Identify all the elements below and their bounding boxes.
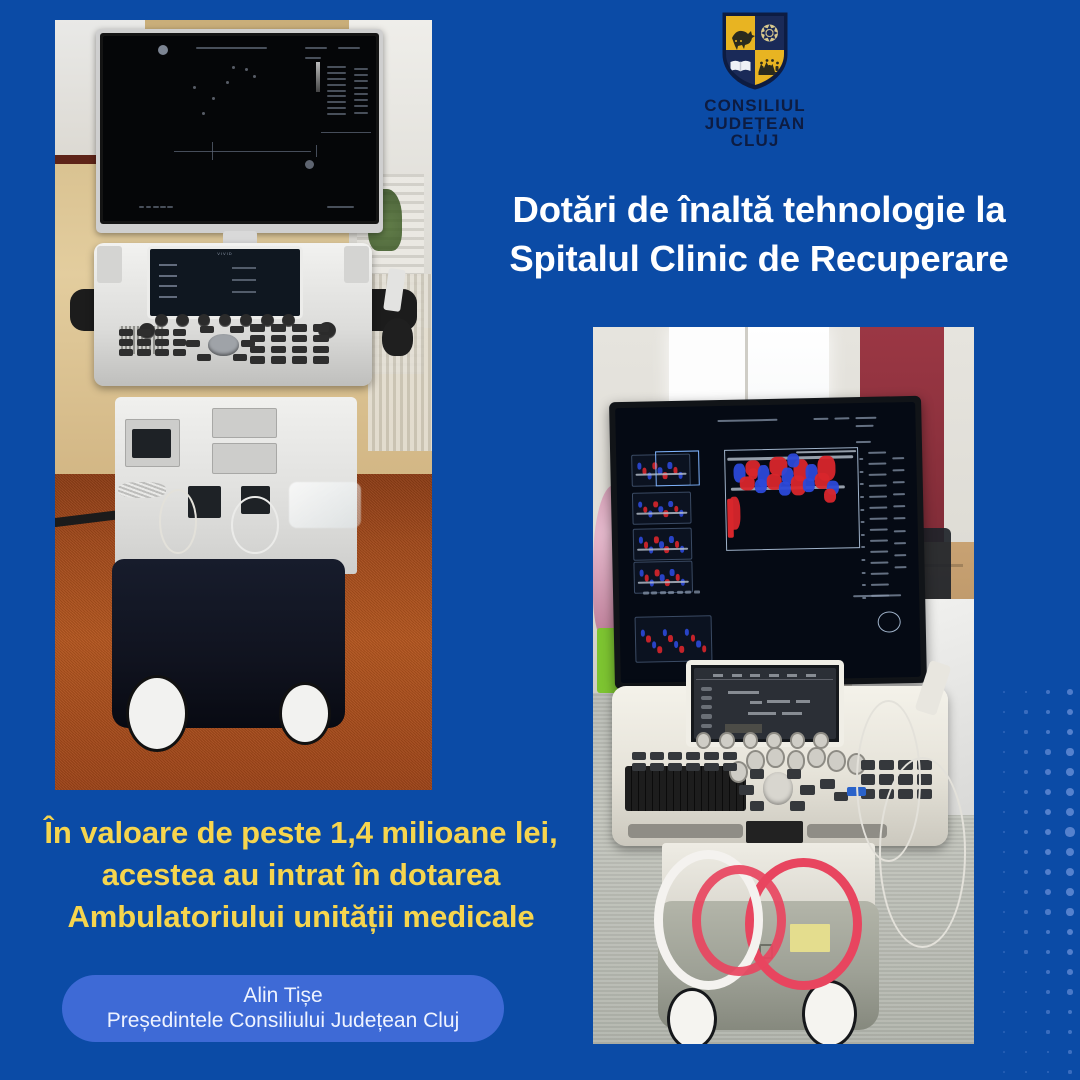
doppler-monitor [609,395,927,688]
coat-of-arms-icon [722,12,788,90]
caption-line-2: acestea au intrat în dotarea [12,854,590,896]
ultrasound-monitor [96,29,383,233]
title-line-1: Dotări de înaltă tehnologie la [455,186,1063,235]
caption-text: În valoare de peste 1,4 milioane lei, ac… [12,812,590,938]
page-title: Dotări de înaltă tehnologie la Spitalul … [455,186,1063,283]
halftone-dots-decoration [990,680,1080,1080]
poster-canvas: CONSILIUL JUDEȚEAN CLUJ Dotări de înaltă… [0,0,1080,1080]
photo-ultrasound-right [593,327,974,1044]
signature-name: Alin Tișe [243,984,322,1009]
logo-block: CONSILIUL JUDEȚEAN CLUJ [690,12,820,150]
signature-pill: Alin Tișe Președintele Consiliului Județ… [62,975,504,1042]
photo-ultrasound-left [55,20,432,790]
ultrasound-control-panel [70,243,417,405]
signature-role: Președintele Consiliului Județean Cluj [107,1009,460,1034]
caption-line-3: Ambulatoriului unității medicale [12,896,590,938]
logo-line-3: CLUJ [690,132,820,150]
logo-line-1: CONSILIUL [690,97,820,115]
caption-line-1: În valoare de peste 1,4 milioane lei, [12,812,590,854]
title-line-2: Spitalul Clinic de Recuperare [455,235,1063,284]
logo-line-2: JUDEȚEAN [690,115,820,133]
logo-wordmark: CONSILIUL JUDEȚEAN CLUJ [690,97,820,150]
